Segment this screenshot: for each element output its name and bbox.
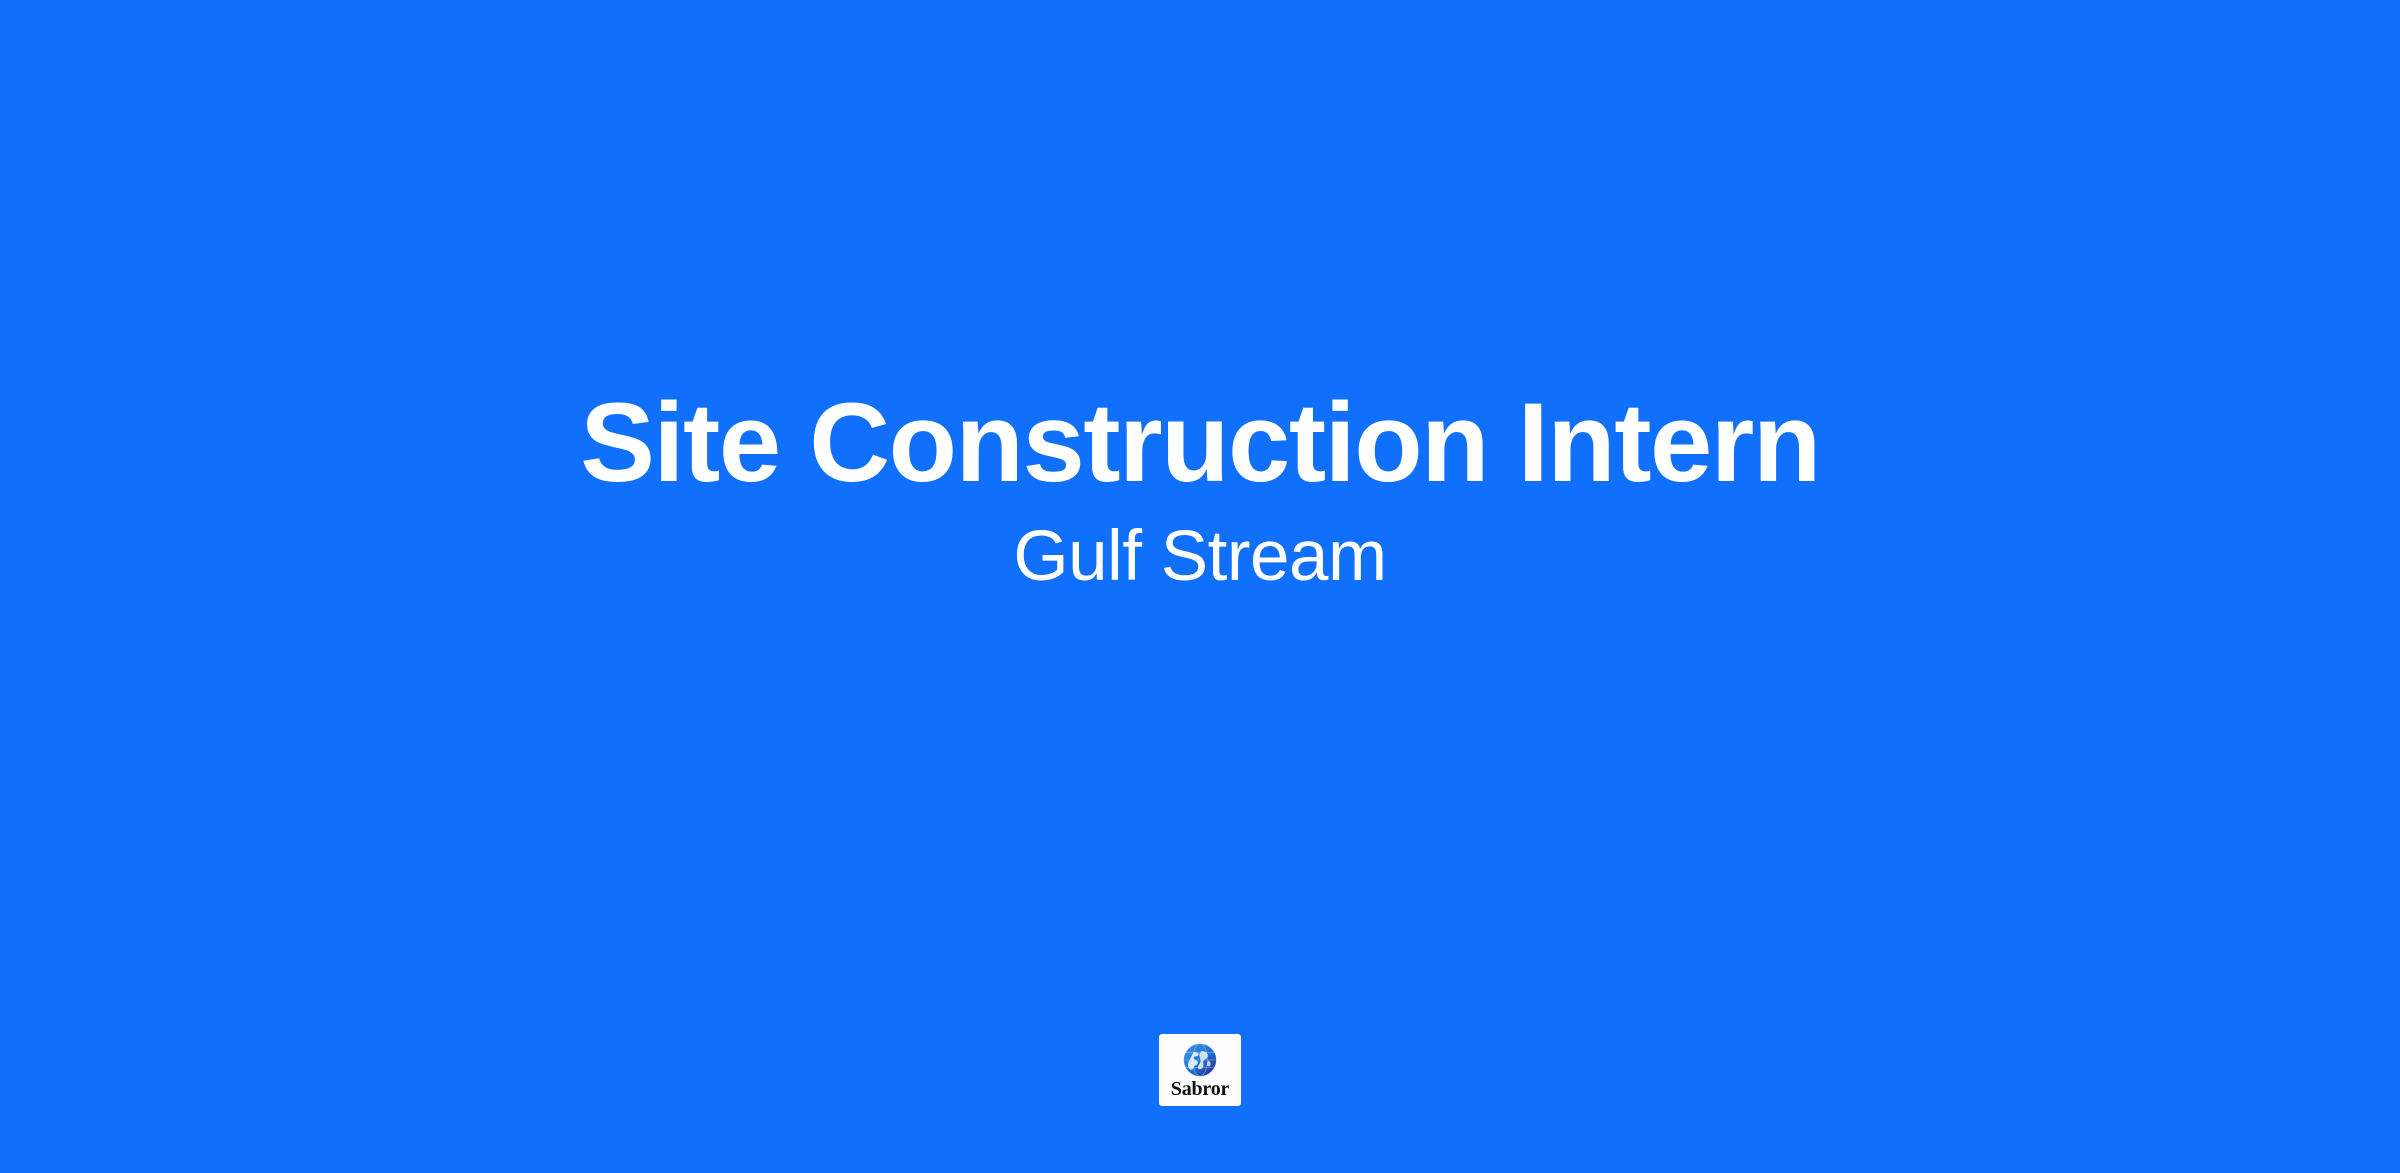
logo-wordmark: Sabror (1171, 1079, 1229, 1099)
page-title: Site Construction Intern (580, 384, 1820, 503)
globe-icon (1182, 1042, 1218, 1078)
logo-card: Sabror (1159, 1034, 1241, 1106)
company-logo: Sabror (0, 1034, 2400, 1106)
hero-text-block: Site Construction Intern Gulf Stream (0, 0, 2400, 1040)
company-name: Gulf Stream (1013, 517, 1386, 597)
job-hero-banner: Site Construction Intern Gulf Stream (0, 0, 2400, 1173)
